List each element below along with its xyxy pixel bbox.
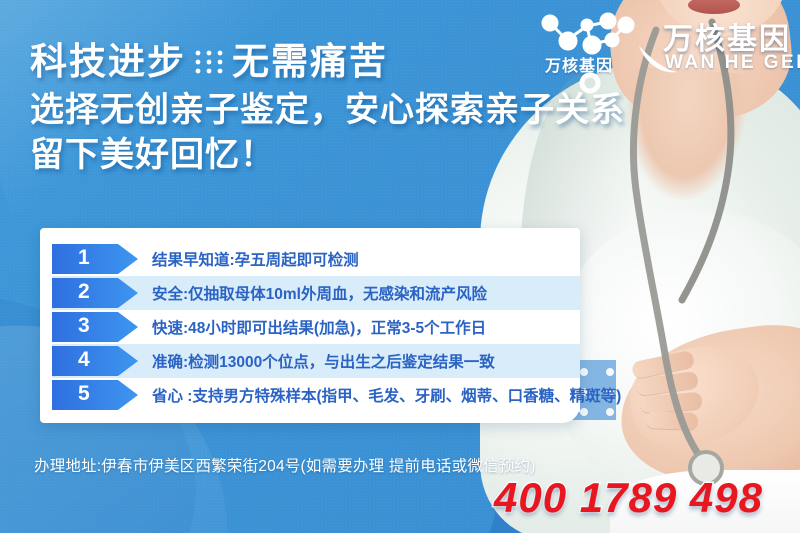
step-badge-4-icon bbox=[52, 346, 138, 376]
feature-row[interactable]: 5 省心 :支持男方特殊样本(指甲、毛发、牙刷、烟蒂、口香糖、精斑等) bbox=[52, 378, 580, 412]
feature-text: 准确:检测13000个位点，与出生之后鉴定结果一致 bbox=[152, 350, 495, 372]
feature-number: 2 bbox=[78, 280, 90, 304]
step-badge-5-icon bbox=[52, 380, 138, 410]
feature-text: 安全:仅抽取母体10ml外周血，无感染和流产风险 bbox=[152, 282, 487, 304]
feature-row[interactable]: 3 快速:48小时即可出结果(加急)，正常3-5个工作日 bbox=[52, 310, 580, 344]
headline-line3: 留下美好回忆！ bbox=[30, 133, 670, 178]
brand-name-en: WAN HE GENE bbox=[665, 52, 800, 74]
feature-text: 省心 :支持男方特殊样本(指甲、毛发、牙刷、烟蒂、口香糖、精斑等) bbox=[152, 384, 621, 406]
feature-number: 5 bbox=[78, 382, 90, 406]
phone-number[interactable]: 400 1789 498 bbox=[494, 474, 763, 522]
headline-line2: 选择无创亲子鉴定，安心探索亲子关系 bbox=[30, 88, 670, 133]
feature-number: 3 bbox=[78, 314, 90, 338]
promo-banner: 万核基因 万核基因 WAN HE GENE 科技进步 无需痛苦 选择无创亲子鉴定… bbox=[0, 0, 800, 533]
step-badge-3-icon bbox=[52, 312, 138, 342]
features-list: 1 结果早知道:孕五周起即可检测 2 安全:仅抽取母体10ml外周血，无感染和流… bbox=[52, 242, 580, 412]
feature-row[interactable]: 2 安全:仅抽取母体10ml外周血，无感染和流产风险 bbox=[52, 276, 580, 310]
headline: 科技进步 无需痛苦 选择无创亲子鉴定，安心探索亲子关系 留下美好回忆！ bbox=[30, 40, 670, 177]
headline-line1-right: 无需痛苦 bbox=[232, 40, 388, 84]
dot-grid-icon bbox=[192, 47, 226, 75]
feature-number: 1 bbox=[78, 246, 90, 270]
step-badge-2-icon bbox=[52, 278, 138, 308]
headline-line1-left: 科技进步 bbox=[30, 40, 186, 84]
feature-row[interactable]: 4 准确:检测13000个位点，与出生之后鉴定结果一致 bbox=[52, 344, 580, 378]
feature-row[interactable]: 1 结果早知道:孕五周起即可检测 bbox=[52, 242, 580, 276]
feature-text: 结果早知道:孕五周起即可检测 bbox=[152, 248, 359, 270]
feature-number: 4 bbox=[78, 348, 90, 372]
feature-text: 快速:48小时即可出结果(加急)，正常3-5个工作日 bbox=[152, 316, 486, 338]
step-badge-1-icon bbox=[52, 244, 138, 274]
address-text: 办理地址:伊春市伊美区西繁荣街204号(如需要办理 提前电话或微信预约) bbox=[34, 454, 536, 476]
features-card: 1 结果早知道:孕五周起即可检测 2 安全:仅抽取母体10ml外周血，无感染和流… bbox=[40, 228, 580, 423]
